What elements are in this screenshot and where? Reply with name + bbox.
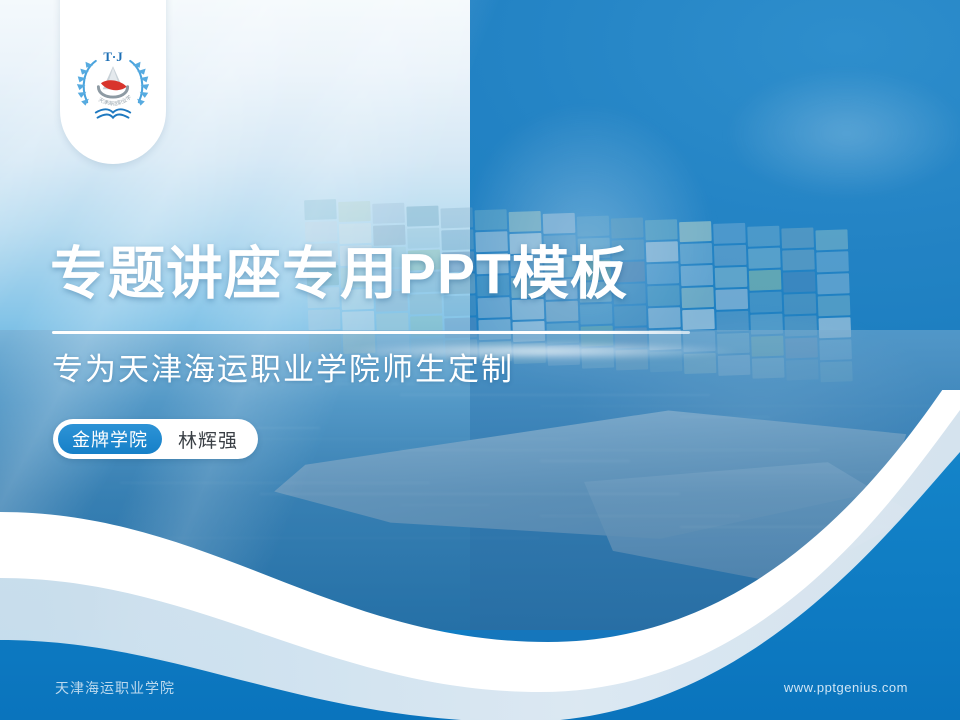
svg-text:天津海运职业学院: 天津海运职业学院 <box>70 42 133 107</box>
slide-title: 专题讲座专用PPT模板 <box>50 240 628 308</box>
presenter-name: 林辉强 <box>178 426 238 453</box>
badge-tag-label: 金牌学院 <box>58 424 162 454</box>
university-logo-card: T·J 天津海运职业学院 <box>60 0 166 164</box>
svg-text:T·J: T·J <box>103 50 123 64</box>
university-crest-icon: T·J 天津海运职业学院 <box>70 42 156 128</box>
title-divider <box>52 331 690 334</box>
footer-institution: 天津海运职业学院 <box>55 678 175 698</box>
footer-website[interactable]: www.pptgenius.com <box>784 680 908 695</box>
presenter-badge: 金牌学院 林辉强 <box>53 419 258 459</box>
slide-subtitle: 专为天津海运职业学院师生定制 <box>52 350 514 390</box>
presentation-cover-slide: T·J 天津海运职业学院 专题讲座专用PPT模板 专为天津海运职业学院师生定制 … <box>0 0 960 720</box>
